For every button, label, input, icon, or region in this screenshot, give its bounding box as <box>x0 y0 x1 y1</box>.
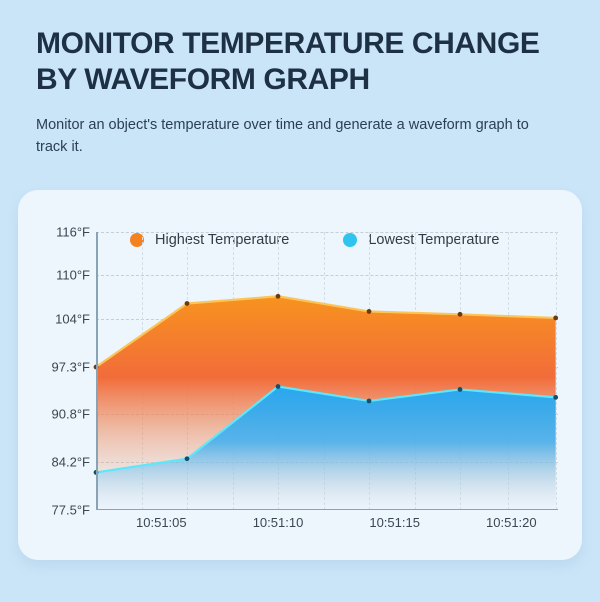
x-axis-tick-label: 10:51:20 <box>486 515 537 530</box>
data-point[interactable] <box>553 316 558 321</box>
x-axis-line <box>96 509 558 511</box>
data-point[interactable] <box>458 312 463 317</box>
data-point[interactable] <box>553 395 558 400</box>
y-axis-tick-label: 104°F <box>55 311 90 326</box>
data-point[interactable] <box>276 384 281 389</box>
x-axis-labels: 10:51:0510:51:1010:51:1510:51:20 <box>96 515 566 539</box>
y-axis-tick-label: 84.2°F <box>52 454 90 469</box>
y-axis-line <box>96 232 98 510</box>
data-point[interactable] <box>367 309 372 314</box>
data-point[interactable] <box>276 294 281 299</box>
page-title: MONITOR TEMPERATURE CHANGE BY WAVEFORM G… <box>36 26 576 98</box>
plot-area <box>96 232 558 510</box>
y-axis-tick-label: 90.8°F <box>52 406 90 421</box>
y-axis-tick-label: 110°F <box>56 268 90 283</box>
data-point[interactable] <box>185 456 190 461</box>
x-axis-tick-label: 10:51:15 <box>369 515 420 530</box>
header: MONITOR TEMPERATURE CHANGE BY WAVEFORM G… <box>36 26 576 158</box>
x-axis-tick-label: 10:51:05 <box>136 515 187 530</box>
x-axis-tick-label: 10:51:10 <box>253 515 304 530</box>
y-axis-tick-label: 116°F <box>56 225 90 240</box>
page-root: MONITOR TEMPERATURE CHANGE BY WAVEFORM G… <box>0 0 600 602</box>
y-axis-labels: 116°F110°F104°F97.3°F90.8°F84.2°F77.5°F <box>18 232 90 510</box>
y-axis-tick-label: 97.3°F <box>52 360 90 375</box>
data-point[interactable] <box>458 387 463 392</box>
chart-card: Highest Temperature Lowest Temperature 1… <box>18 190 582 560</box>
page-subtitle: Monitor an object's temperature over tim… <box>36 114 536 158</box>
data-point[interactable] <box>185 301 190 306</box>
y-axis-tick-label: 77.5°F <box>52 503 90 518</box>
chart-series-canvas <box>96 232 558 510</box>
data-point[interactable] <box>367 399 372 404</box>
